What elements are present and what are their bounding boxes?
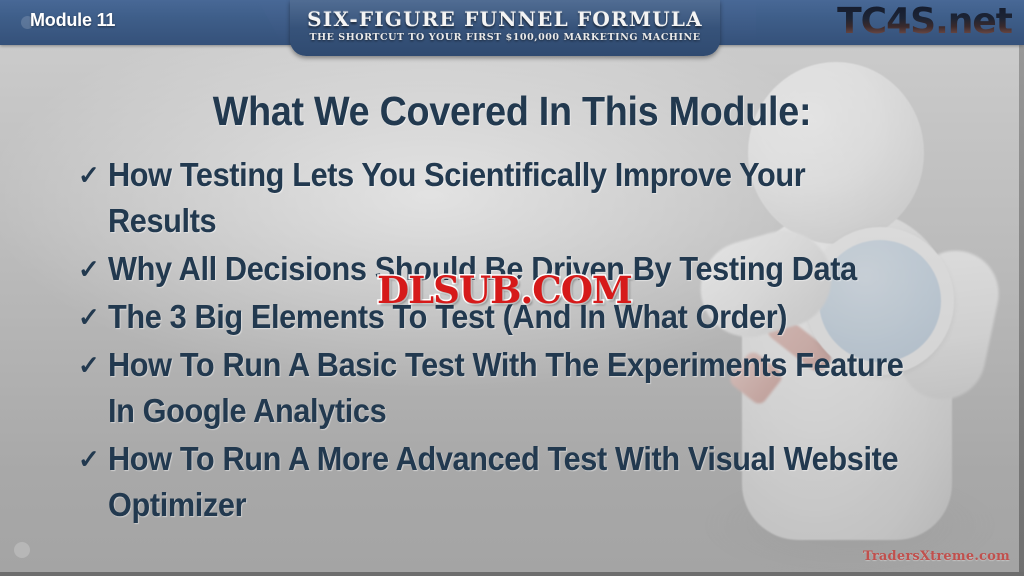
course-title: SIX-FIGURE FUNNEL FORMULA bbox=[290, 7, 720, 31]
corner-dot bbox=[14, 542, 30, 558]
check-icon: ✓ bbox=[74, 246, 108, 292]
list-item: ✓ How To Run A Basic Test With The Exper… bbox=[74, 342, 974, 434]
right-edge-shade bbox=[1019, 45, 1024, 576]
check-icon: ✓ bbox=[74, 152, 108, 198]
list-item-label: How To Run A Basic Test With The Experim… bbox=[108, 342, 913, 434]
overlay-watermark: DLSUB.COM bbox=[377, 268, 632, 312]
bottom-strip bbox=[0, 572, 1024, 576]
list-item: ✓ How Testing Lets You Scientifically Im… bbox=[74, 152, 974, 244]
list-item: ✓ How To Run A More Advanced Test With V… bbox=[74, 436, 974, 528]
check-icon: ✓ bbox=[74, 436, 108, 482]
page-title: What We Covered In This Module: bbox=[41, 88, 983, 135]
check-icon: ✓ bbox=[74, 342, 108, 388]
list-item-label: How To Run A More Advanced Test With Vis… bbox=[108, 436, 913, 528]
banner-wing-right bbox=[716, 0, 756, 45]
bullet-list: ✓ How Testing Lets You Scientifically Im… bbox=[74, 152, 974, 530]
course-banner: SIX-FIGURE FUNNEL FORMULA THE SHORTCUT T… bbox=[290, 0, 720, 56]
course-subtitle: THE SHORTCUT TO YOUR FIRST $100,000 MARK… bbox=[290, 32, 720, 43]
list-item-label: How Testing Lets You Scientifically Impr… bbox=[108, 152, 913, 244]
slide-canvas: Module 11 SIX-FIGURE FUNNEL FORMULA THE … bbox=[0, 0, 1024, 576]
site-watermark: TC4S.net bbox=[837, 1, 1012, 42]
module-label: Module 11 bbox=[30, 10, 115, 31]
footer-watermark: TradersXtreme.com bbox=[863, 549, 1010, 564]
check-icon: ✓ bbox=[74, 294, 108, 340]
